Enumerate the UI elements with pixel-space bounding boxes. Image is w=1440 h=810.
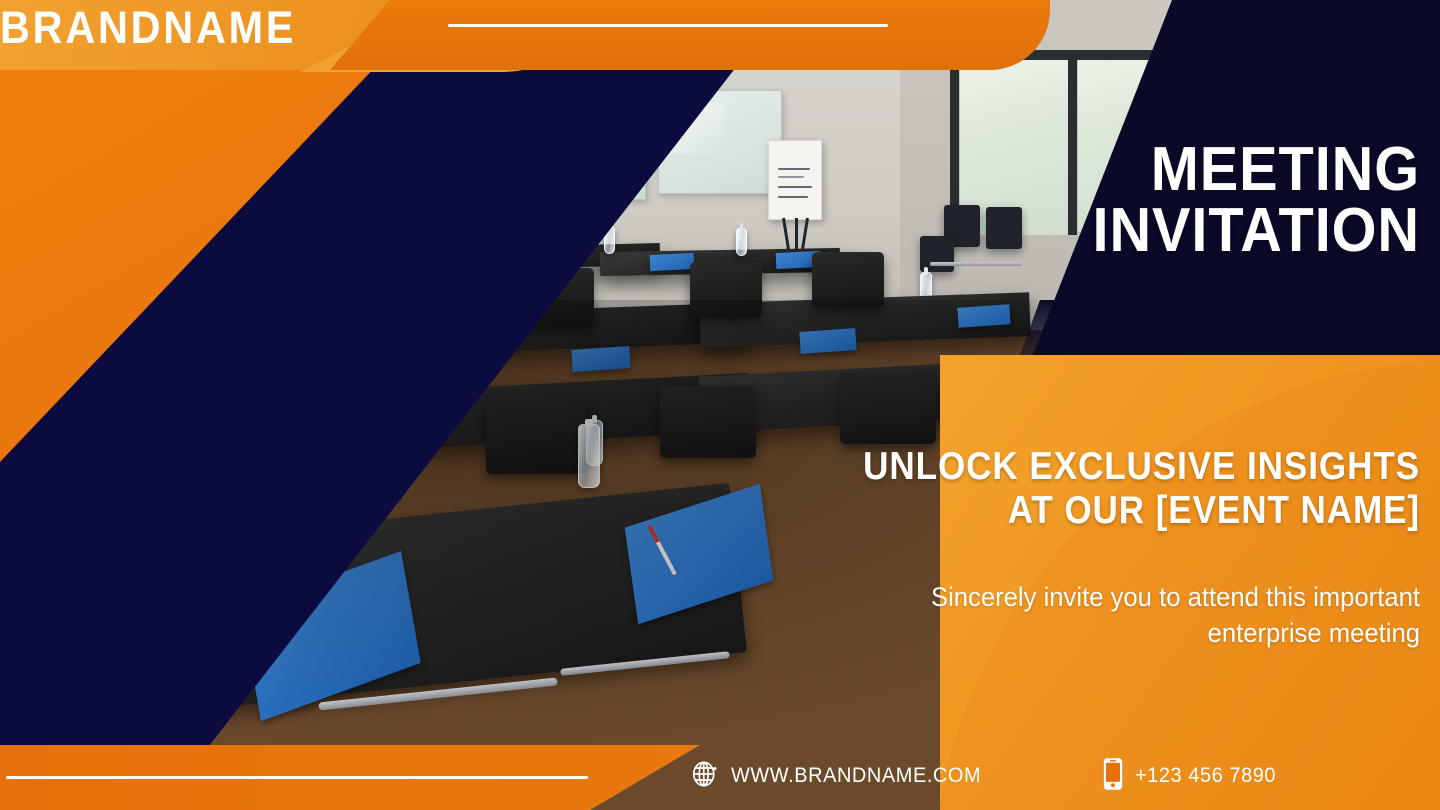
footer-rule [6, 776, 588, 779]
brand-name: BRANDNAME [0, 0, 331, 56]
tagline-line-2: AT OUR [EVENT NAME] [853, 489, 1420, 533]
chair-leg [930, 262, 1022, 266]
header-rule [448, 24, 888, 27]
water-bottle [736, 228, 747, 256]
title-line-2: INVITATION [1029, 201, 1420, 262]
website-contact[interactable]: WWW.BRANDNAME.COM [690, 759, 994, 794]
flipchart-pad [768, 140, 822, 220]
flipchart-line [778, 186, 812, 188]
mobile-phone-icon [1102, 757, 1124, 796]
body-line-2: enterprise meeting [793, 616, 1420, 652]
header-bar [330, 0, 1050, 70]
globe-icon [690, 759, 720, 794]
title-line-1: MEETING [1029, 140, 1420, 201]
flipchart-line [778, 196, 808, 198]
flipchart-line [778, 168, 810, 170]
tagline-block: UNLOCK EXCLUSIVE INSIGHTS AT OUR [EVENT … [790, 445, 1420, 532]
flipchart-line [778, 176, 804, 178]
tagline-line-1: UNLOCK EXCLUSIVE INSIGHTS [853, 445, 1420, 489]
body-text-block: Sincerely invite you to attend this impo… [760, 580, 1420, 651]
title-block: MEETING INVITATION [1000, 140, 1420, 262]
phone-text: +123 456 7890 [1135, 764, 1276, 788]
invitation-poster: BRANDNAME MEETING INVITATION UNLOCK EXCL… [0, 0, 1440, 810]
phone-contact[interactable]: +123 456 7890 [1102, 757, 1284, 796]
body-line-1: Sincerely invite you to attend this impo… [793, 580, 1420, 616]
contact-bar: WWW.BRANDNAME.COM +123 456 7890 [690, 752, 1390, 800]
website-text: WWW.BRANDNAME.COM [731, 764, 981, 788]
blue-folder [650, 253, 695, 271]
